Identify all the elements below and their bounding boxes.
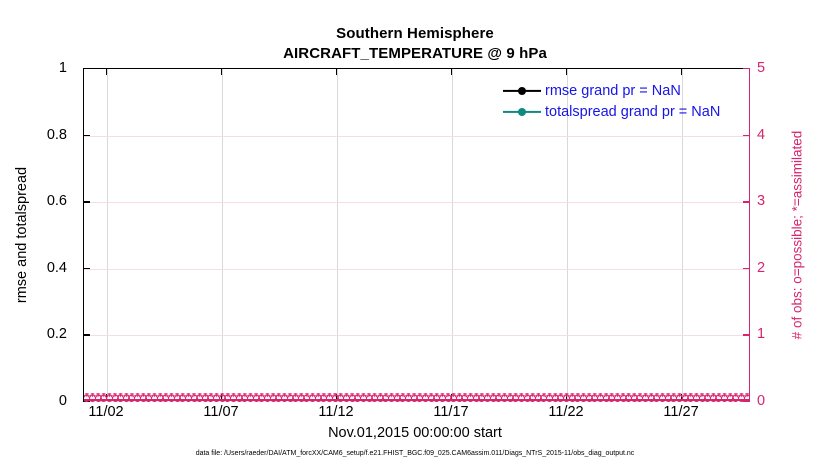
gridline-vertical xyxy=(567,69,568,400)
y-axis-tick-label-left: 0.6 xyxy=(47,193,67,209)
y-axis-tick-right xyxy=(743,135,750,136)
x-axis-tick-label: 11/17 xyxy=(433,404,468,420)
x-axis-tick-top xyxy=(451,68,452,75)
gridline-vertical xyxy=(107,69,108,400)
chart-figure: Southern Hemisphere AIRCRAFT_TEMPERATURE… xyxy=(0,0,830,470)
gridline-horizontal xyxy=(84,202,749,203)
gridline-vertical xyxy=(337,69,338,400)
gridline-horizontal xyxy=(84,136,749,137)
y-axis-title-left: rmse and totalspread xyxy=(14,167,30,303)
y-axis-tick-label-left: 1 xyxy=(59,60,67,76)
x-axis-tick-label: 11/22 xyxy=(548,404,583,420)
gridline-vertical xyxy=(682,69,683,400)
y-axis-tick-label-right: 2 xyxy=(757,260,765,276)
x-axis-tick-top xyxy=(221,68,222,75)
chart-title-line-2: AIRCRAFT_TEMPERATURE @ 9 hPa xyxy=(0,44,830,64)
chart-title-line-1: Southern Hemisphere xyxy=(0,24,830,44)
y-axis-tick-label-right: 4 xyxy=(757,127,765,143)
y-axis-tick-left xyxy=(83,68,90,69)
obs-marker-band: ****************************************… xyxy=(84,393,750,405)
obs-count-marker: * xyxy=(743,394,750,403)
x-axis-title: Nov.01,2015 00:00:00 start xyxy=(0,425,830,441)
plot-area xyxy=(83,68,750,401)
y-axis-tick-label-left: 0.4 xyxy=(47,260,67,276)
x-axis-tick-top xyxy=(566,68,567,75)
gridline-horizontal xyxy=(84,335,749,336)
y-axis-tick-left xyxy=(83,135,90,136)
gridline-horizontal xyxy=(84,269,749,270)
y-axis-tick-label-left: 0.8 xyxy=(47,127,67,143)
gridline-vertical xyxy=(222,69,223,400)
y-axis-tick-label-right: 1 xyxy=(757,326,765,342)
chart-title-block: Southern Hemisphere AIRCRAFT_TEMPERATURE… xyxy=(0,24,830,64)
y-axis-tick-left xyxy=(83,201,90,202)
y-axis-tick-label-left: 0 xyxy=(59,393,67,409)
x-axis-tick-label: 11/12 xyxy=(318,404,353,420)
x-axis-tick-label: 11/27 xyxy=(663,404,698,420)
x-axis-tick-top xyxy=(106,68,107,75)
y-axis-tick-right xyxy=(743,201,750,202)
y-axis-tick-right xyxy=(743,334,750,335)
y-axis-tick-right xyxy=(743,68,750,69)
y-axis-title-right: # of obs: o=possible; *=assimilated xyxy=(790,131,805,340)
y-axis-tick-left xyxy=(83,334,90,335)
obs-assimilated-star-icon: * xyxy=(743,393,750,404)
y-axis-tick-left xyxy=(83,268,90,269)
x-axis-tick-label: 11/02 xyxy=(88,404,123,420)
data-file-footer: data file: /Users/raeder/DAI/ATM_forcXX/… xyxy=(0,450,830,457)
y-axis-tick-right xyxy=(743,268,750,269)
gridline-vertical xyxy=(452,69,453,400)
y-axis-tick-label-right: 5 xyxy=(757,60,765,76)
y-axis-tick-label-right: 0 xyxy=(757,393,765,409)
x-axis-tick-top xyxy=(681,68,682,75)
x-axis-tick-label: 11/07 xyxy=(203,404,238,420)
x-axis-tick-top xyxy=(336,68,337,75)
y-axis-tick-label-right: 3 xyxy=(757,193,765,209)
y-axis-tick-label-left: 0.2 xyxy=(47,326,67,342)
